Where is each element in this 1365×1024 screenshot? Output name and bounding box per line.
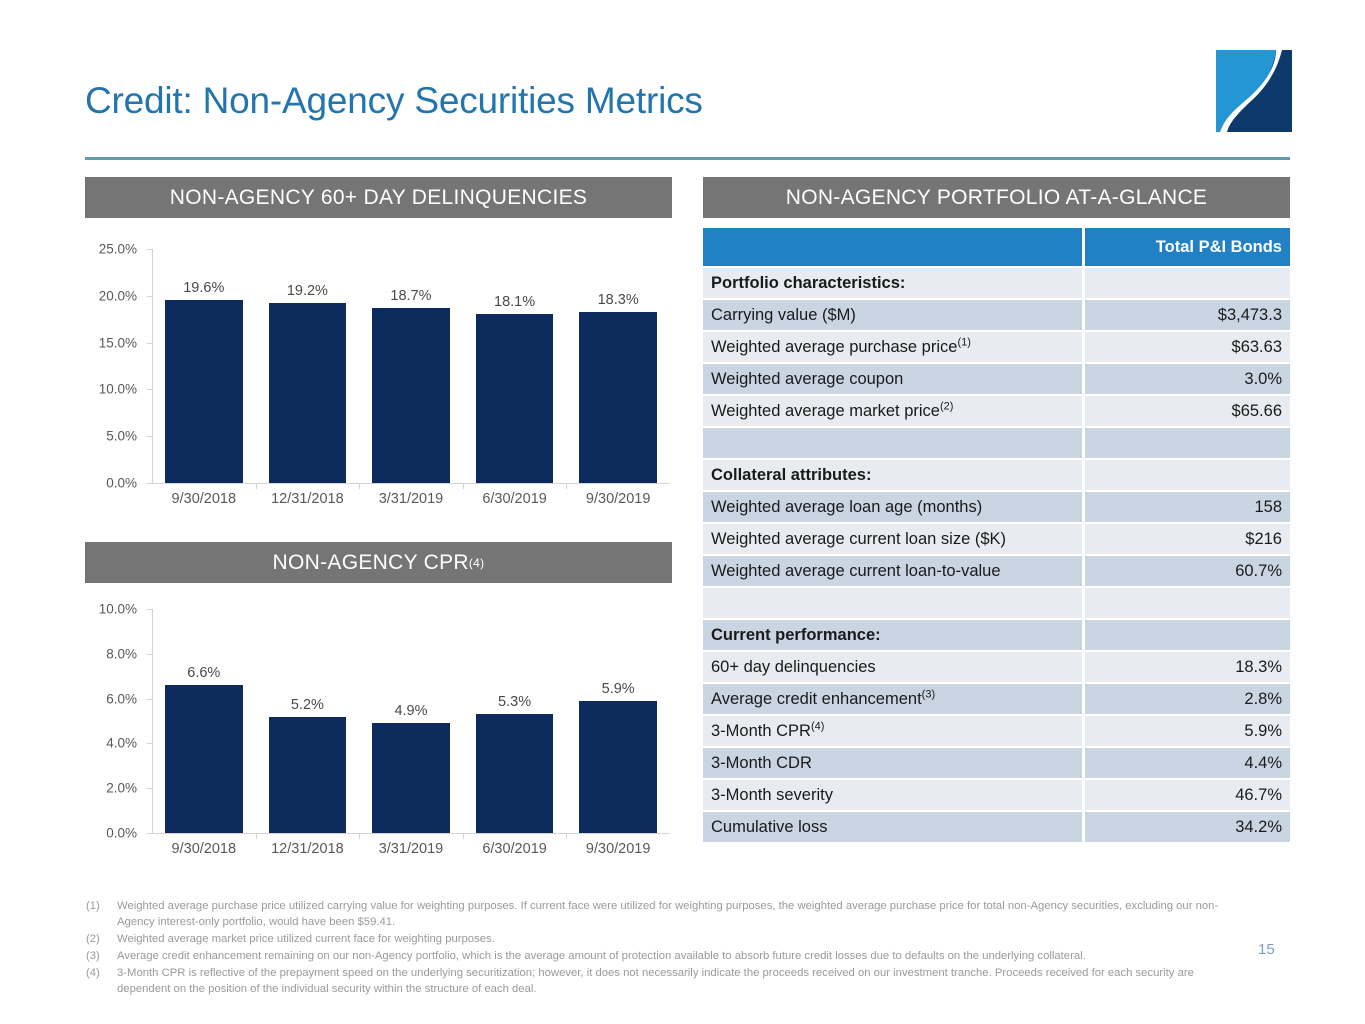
table-cell-value (1082, 588, 1290, 620)
bar (269, 717, 347, 833)
y-axis-tick (147, 343, 152, 344)
table-cell-label: Cumulative loss (703, 812, 1082, 844)
bar-value-label: 19.2% (256, 283, 360, 299)
bar-slot: 6.6% (152, 609, 256, 833)
chart-cpr-bars: 6.6%5.2%4.9%5.3%5.9% (152, 609, 670, 833)
y-axis-tick-label: 4.0% (106, 736, 137, 751)
chart-delinquencies-bars: 19.6%19.2%18.7%18.1%18.3% (152, 249, 670, 483)
x-axis-tick-label: 6/30/2019 (463, 491, 567, 507)
x-axis-tick (566, 484, 567, 489)
bar-slot: 18.7% (359, 249, 463, 483)
table-cell-label (703, 428, 1082, 460)
table-cell-value (1082, 620, 1290, 652)
chart-delinquencies-x-labels: 9/30/201812/31/20183/31/20196/30/20199/3… (152, 491, 670, 507)
table-cell-value: $63.63 (1082, 332, 1290, 364)
bar-slot: 19.2% (256, 249, 360, 483)
bar-value-label: 5.3% (463, 694, 567, 710)
y-axis-tick (147, 833, 152, 834)
x-axis-tick (256, 834, 257, 839)
table-cell-label: 60+ day delinquencies (703, 652, 1082, 684)
table-header-row: Total P&I Bonds (703, 228, 1290, 268)
bar-slot: 18.3% (566, 249, 670, 483)
table-row: Weighted average purchase price(1)$63.63 (703, 332, 1290, 364)
table-row: 3-Month CPR(4)5.9% (703, 716, 1290, 748)
table-cell-label: 3-Month CDR (703, 748, 1082, 780)
table-spacer-row (703, 428, 1290, 460)
table-cell-value: $3,473.3 (1082, 300, 1290, 332)
footnote-text: Weighted average purchase price utilized… (117, 898, 1246, 930)
footnotes: (1)Weighted average purchase price utili… (86, 898, 1246, 998)
y-axis-tick (147, 743, 152, 744)
table-row: Weighted average loan age (months)158 (703, 492, 1290, 524)
y-axis-tick-label: 5.0% (106, 429, 137, 444)
table-cell-value: 18.3% (1082, 652, 1290, 684)
table-row: 60+ day delinquencies18.3% (703, 652, 1290, 684)
table-cell-value (1082, 268, 1290, 300)
bar (372, 308, 450, 483)
y-axis-tick (147, 436, 152, 437)
table-cell-label: Weighted average current loan-to-value (703, 556, 1082, 588)
section-header-delinquencies: NON-AGENCY 60+ DAY DELINQUENCIES (85, 177, 672, 218)
footnote-number: (3) (86, 948, 117, 964)
table-cell-value: 2.8% (1082, 684, 1290, 716)
footnote-text: Weighted average market price utilized c… (117, 931, 1246, 947)
x-axis-tick (359, 484, 360, 489)
bar (476, 314, 554, 483)
bar (476, 714, 554, 833)
table-cell-value: 3.0% (1082, 364, 1290, 396)
y-axis-tick-label: 10.0% (99, 602, 137, 617)
chart-cpr-y-axis: 0.0%2.0%4.0%6.0%8.0%10.0% (90, 595, 145, 870)
table-cell-label: 3-Month CPR(4) (703, 716, 1082, 748)
y-axis-tick (147, 296, 152, 297)
table-group-row: Portfolio characteristics: (703, 268, 1290, 300)
table-cell-label: Carrying value ($M) (703, 300, 1082, 332)
x-axis-tick (566, 834, 567, 839)
footnote-text: Average credit enhancement remaining on … (117, 948, 1246, 964)
y-axis-tick (147, 654, 152, 655)
x-axis-tick (256, 484, 257, 489)
section-header-delinquencies-label: NON-AGENCY 60+ DAY DELINQUENCIES (170, 186, 587, 210)
y-axis-tick (147, 389, 152, 390)
bar-value-label: 4.9% (359, 703, 463, 719)
bar (579, 312, 657, 483)
y-axis-tick (147, 609, 152, 610)
x-axis-tick-label: 3/31/2019 (359, 491, 463, 507)
footnote-ref: (3) (922, 688, 935, 700)
company-logo-icon (1216, 50, 1292, 132)
table-spacer-row (703, 588, 1290, 620)
table-cell-value (1082, 460, 1290, 492)
bar-value-label: 6.6% (152, 665, 256, 681)
y-axis-tick (147, 699, 152, 700)
table-cell-value (1082, 428, 1290, 460)
bar-value-label: 19.6% (152, 280, 256, 296)
y-axis-tick-label: 10.0% (99, 382, 137, 397)
footnote: (3)Average credit enhancement remaining … (86, 948, 1246, 964)
table-cell-value: $216 (1082, 524, 1290, 556)
x-axis-tick-label: 9/30/2018 (152, 841, 256, 857)
bar-slot: 4.9% (359, 609, 463, 833)
chart-cpr-x-labels: 9/30/201812/31/20183/31/20196/30/20199/3… (152, 841, 670, 857)
table-cell-label: Collateral attributes: (703, 460, 1082, 492)
bar-value-label: 18.1% (463, 294, 567, 310)
y-axis-tick-label: 15.0% (99, 335, 137, 350)
table-row: Weighted average market price(2)$65.66 (703, 396, 1290, 428)
footnote-ref: (1) (957, 336, 970, 348)
table-row: 3-Month CDR4.4% (703, 748, 1290, 780)
x-axis-tick-label: 9/30/2018 (152, 491, 256, 507)
footnote-number: (4) (86, 965, 117, 997)
table-cell-value: 34.2% (1082, 812, 1290, 844)
bar-value-label: 5.9% (566, 681, 670, 697)
x-axis-tick (463, 484, 464, 489)
bar (165, 300, 243, 483)
chart-cpr-plot: 6.6%5.2%4.9%5.3%5.9% 9/30/201812/31/2018… (152, 595, 670, 870)
footnote: (4)3-Month CPR is reflective of the prep… (86, 965, 1246, 997)
footnote-text: 3-Month CPR is reflective of the prepaym… (117, 965, 1246, 997)
y-axis-tick-label: 0.0% (106, 826, 137, 841)
y-axis-tick-label: 20.0% (99, 288, 137, 303)
bar-value-label: 18.3% (566, 292, 670, 308)
table-cell-label: Average credit enhancement(3) (703, 684, 1082, 716)
y-axis-tick-label: 6.0% (106, 691, 137, 706)
bar-slot: 5.9% (566, 609, 670, 833)
table-cell-label: Weighted average market price(2) (703, 396, 1082, 428)
y-axis-tick-label: 2.0% (106, 781, 137, 796)
x-axis-tick-label: 12/31/2018 (256, 491, 360, 507)
table-row: 3-Month severity46.7% (703, 780, 1290, 812)
table-row: Weighted average current loan-to-value60… (703, 556, 1290, 588)
table-header-blank (703, 228, 1082, 268)
x-axis-tick-label: 6/30/2019 (463, 841, 567, 857)
y-axis-tick (147, 249, 152, 250)
table-body: Portfolio characteristics:Carrying value… (703, 268, 1290, 844)
bar-value-label: 5.2% (256, 697, 360, 713)
chart-delinquencies: 0.0%5.0%10.0%15.0%20.0%25.0% 19.6%19.2%1… (90, 235, 670, 520)
chart-cpr: 0.0%2.0%4.0%6.0%8.0%10.0% 6.6%5.2%4.9%5.… (90, 595, 670, 870)
y-axis-tick (147, 788, 152, 789)
x-axis-tick-label: 3/31/2019 (359, 841, 463, 857)
page-number: 15 (1258, 941, 1275, 958)
footnote: (1)Weighted average purchase price utili… (86, 898, 1246, 930)
x-axis-tick (359, 834, 360, 839)
table-group-row: Collateral attributes: (703, 460, 1290, 492)
table-row: Weighted average coupon3.0% (703, 364, 1290, 396)
footnote-number: (2) (86, 931, 117, 947)
bar (269, 303, 347, 483)
table-row: Cumulative loss34.2% (703, 812, 1290, 844)
footnote: (2)Weighted average market price utilize… (86, 931, 1246, 947)
table-row: Carrying value ($M)$3,473.3 (703, 300, 1290, 332)
bar (579, 701, 657, 833)
table-cell-value: 60.7% (1082, 556, 1290, 588)
footnote-ref: (4) (811, 720, 824, 732)
x-axis-tick (463, 834, 464, 839)
section-header-portfolio-label: NON-AGENCY PORTFOLIO AT-A-GLANCE (786, 186, 1208, 210)
section-header-cpr-label: NON-AGENCY CPR (273, 551, 469, 575)
footnote-ref: (2) (940, 400, 953, 412)
y-axis-tick-label: 0.0% (106, 476, 137, 491)
footnote-number: (1) (86, 898, 117, 930)
table-cell-label (703, 588, 1082, 620)
table-cell-value: 4.4% (1082, 748, 1290, 780)
table-cell-label: Weighted average purchase price(1) (703, 332, 1082, 364)
table-cell-value: $65.66 (1082, 396, 1290, 428)
y-axis-tick-label: 25.0% (99, 242, 137, 257)
bar (165, 685, 243, 833)
portfolio-at-a-glance-table: Total P&I Bonds Portfolio characteristic… (703, 228, 1290, 844)
bar-slot: 5.2% (256, 609, 360, 833)
table-header-total-pi-bonds: Total P&I Bonds (1082, 228, 1290, 268)
bar (372, 723, 450, 833)
table-cell-value: 5.9% (1082, 716, 1290, 748)
table-group-row: Current performance: (703, 620, 1290, 652)
table-row: Weighted average current loan size ($K)$… (703, 524, 1290, 556)
section-header-portfolio: NON-AGENCY PORTFOLIO AT-A-GLANCE (703, 177, 1290, 218)
x-axis-line (152, 483, 670, 484)
table-cell-label: 3-Month severity (703, 780, 1082, 812)
x-axis-tick-label: 12/31/2018 (256, 841, 360, 857)
section-header-cpr: NON-AGENCY CPR(4) (85, 542, 672, 583)
table-row: Average credit enhancement(3)2.8% (703, 684, 1290, 716)
x-axis-line (152, 833, 670, 834)
y-axis-tick-label: 8.0% (106, 646, 137, 661)
table-cell-value: 46.7% (1082, 780, 1290, 812)
x-axis-tick-label: 9/30/2019 (566, 841, 670, 857)
bar-value-label: 18.7% (359, 288, 463, 304)
y-axis-tick (147, 483, 152, 484)
table-cell-label: Weighted average coupon (703, 364, 1082, 396)
bar-slot: 19.6% (152, 249, 256, 483)
table-cell-label: Weighted average current loan size ($K) (703, 524, 1082, 556)
table-cell-label: Current performance: (703, 620, 1082, 652)
table-cell-label: Portfolio characteristics: (703, 268, 1082, 300)
table-cell-value: 158 (1082, 492, 1290, 524)
x-axis-tick-label: 9/30/2019 (566, 491, 670, 507)
chart-delinquencies-y-axis: 0.0%5.0%10.0%15.0%20.0%25.0% (90, 235, 145, 520)
bar-slot: 5.3% (463, 609, 567, 833)
title-divider (85, 157, 1290, 160)
page-title: Credit: Non-Agency Securities Metrics (85, 80, 703, 122)
bar-slot: 18.1% (463, 249, 567, 483)
table-cell-label: Weighted average loan age (months) (703, 492, 1082, 524)
chart-delinquencies-plot: 19.6%19.2%18.7%18.1%18.3% 9/30/201812/31… (152, 235, 670, 520)
